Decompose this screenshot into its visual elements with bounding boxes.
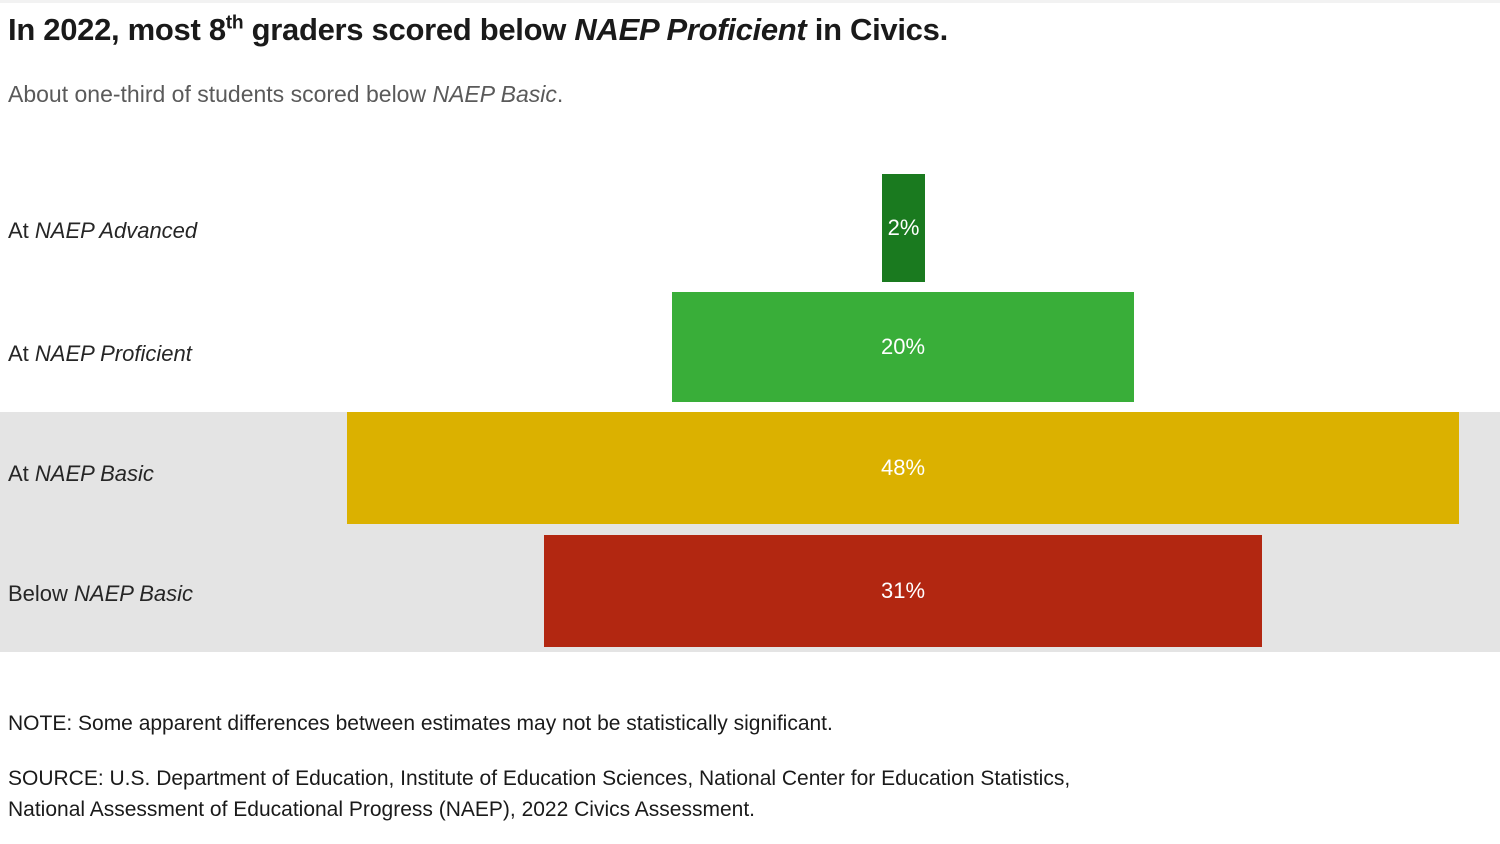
table-row: At NAEP Proficient 20%: [0, 282, 1500, 412]
row-label-emphasis: NAEP Proficient: [35, 341, 192, 366]
row-label-prefix: At: [8, 461, 35, 486]
table-row: At NAEP Basic 48%: [0, 412, 1500, 532]
bar-value-label: 20%: [881, 336, 925, 358]
source-block: SOURCE: U.S. Department of Education, In…: [8, 763, 1488, 825]
row-label-at-naep-basic: At NAEP Basic: [8, 463, 154, 485]
top-divider: [0, 0, 1500, 3]
subtitle-text-part2: .: [557, 81, 563, 107]
title-emphasis-naep-proficient: NAEP Proficient: [574, 12, 806, 47]
row-label-at-naep-proficient: At NAEP Proficient: [8, 343, 192, 365]
row-label-at-naep-advanced: At NAEP Advanced: [8, 220, 197, 242]
note-text: NOTE: Some apparent differences between …: [8, 708, 1488, 739]
source-text-line1: SOURCE: U.S. Department of Education, In…: [8, 763, 1488, 794]
title-text-part1: In 2022, most 8: [8, 12, 226, 47]
table-row: Below NAEP Basic 31%: [0, 532, 1500, 652]
subtitle-text-part1: About one-third of students scored below: [8, 81, 432, 107]
row-label-emphasis: NAEP Basic: [74, 581, 193, 606]
table-row: At NAEP Advanced 2%: [0, 148, 1500, 282]
chart-page: In 2022, most 8th graders scored below N…: [0, 0, 1500, 844]
bar-below-naep-basic[interactable]: 31%: [544, 535, 1262, 647]
row-label-prefix: At: [8, 341, 35, 366]
bar-value-label: 2%: [888, 217, 920, 239]
row-label-below-naep-basic: Below NAEP Basic: [8, 583, 193, 605]
source-text-line2: National Assessment of Educational Progr…: [8, 794, 1488, 825]
row-label-prefix: Below: [8, 581, 74, 606]
row-label-prefix: At: [8, 218, 35, 243]
row-label-emphasis: NAEP Basic: [35, 461, 154, 486]
title-superscript-th: th: [226, 13, 244, 34]
subtitle-emphasis-naep-basic: NAEP Basic: [432, 81, 556, 107]
page-title: In 2022, most 8th graders scored below N…: [8, 12, 1478, 49]
bar-at-naep-basic[interactable]: 48%: [347, 412, 1459, 524]
title-text-part3: in Civics.: [806, 12, 947, 47]
chart-plot-area: At NAEP Advanced 2% At NAEP Proficient 2…: [0, 148, 1500, 668]
bar-value-label: 31%: [881, 580, 925, 602]
title-text-part2: graders scored below: [243, 12, 574, 47]
bar-at-naep-advanced[interactable]: 2%: [882, 174, 925, 282]
bar-at-naep-proficient[interactable]: 20%: [672, 292, 1134, 402]
chart-footnotes: NOTE: Some apparent differences between …: [8, 708, 1488, 825]
page-subtitle: About one-third of students scored below…: [8, 80, 1478, 110]
bar-value-label: 48%: [881, 457, 925, 479]
row-label-emphasis: NAEP Advanced: [35, 218, 197, 243]
